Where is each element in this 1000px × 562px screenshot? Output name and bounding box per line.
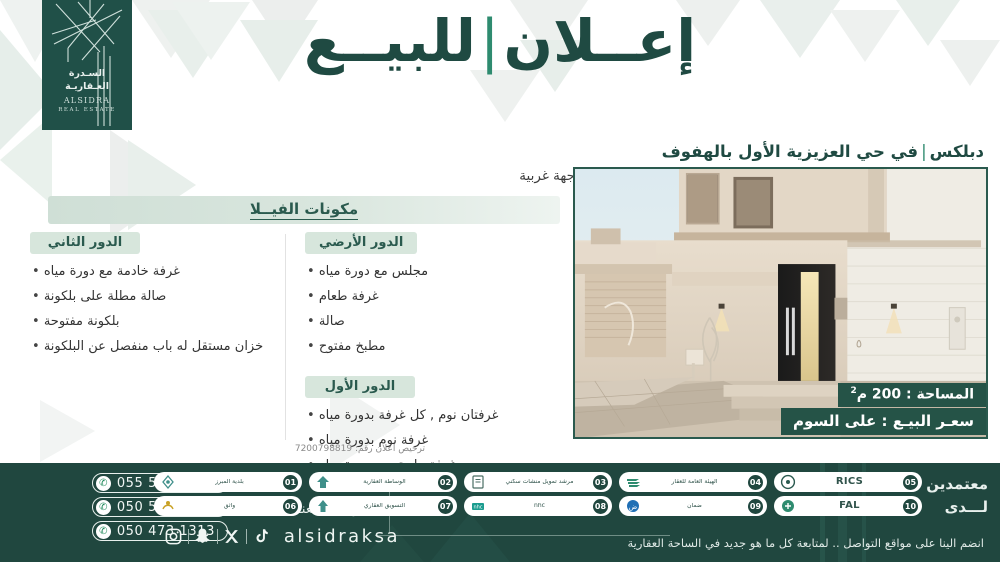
svg-text:nhc: nhc: [473, 505, 482, 511]
cert-label: RICS: [801, 476, 898, 488]
phone-icon: ✆: [96, 500, 111, 515]
cert-number: 03: [593, 475, 608, 490]
social-media-row: alsidraksa: [163, 525, 400, 547]
certification-badges: 05 RICS 04 الهيئة العامة للعقار 03 مرشد …: [154, 472, 922, 516]
daman-logo-icon: ض: [625, 499, 641, 514]
cert-number: 02: [438, 475, 453, 490]
cert-label: بلدية المبرز: [181, 479, 278, 486]
list-item: غرفتان نوم , كل غرفة بدورة مياه: [305, 404, 570, 429]
property-photo: ٥ المساحة : 200 م2 سعـر البيـع : على الس…: [573, 167, 988, 439]
title-main: إعــلان: [503, 7, 696, 75]
components-banner: مكونات الفيــلا: [48, 196, 560, 224]
advertisement-poster: السـدرة العـقاريـة ALSIDRA REAL ESTATE إ…: [0, 0, 1000, 562]
cert-badge-07[interactable]: 07 التسويق العقاري: [309, 496, 457, 516]
floor-title-first: الدور الأول: [305, 376, 415, 398]
components-title: مكونات الفيــلا: [250, 200, 358, 220]
cert-number: 09: [748, 499, 763, 514]
x-icon[interactable]: [221, 525, 243, 547]
cert-label: مرشد تمويل منشآت سكني: [491, 479, 588, 486]
accredited-label: معتمدين لـــدى: [926, 473, 988, 518]
cert-number: 01: [283, 475, 298, 490]
subtitle-separator: |: [918, 142, 930, 161]
license-number: ترخيص اعلان رقم: 7200798819: [295, 444, 425, 454]
cert-number: 07: [438, 499, 453, 514]
cert-label: واثق: [181, 503, 278, 510]
floor-title-ground: الدور الأرضي: [305, 232, 417, 254]
area-badge: المساحة : 200 م2: [838, 383, 986, 407]
listing-type: دبلكس: [930, 142, 984, 161]
cert-label: ضمان: [646, 503, 743, 510]
footer-note: انضم الينا على مواقع التواصل .. لمتابعة …: [627, 536, 984, 550]
list-item: خزان مستقل له باب منفصل عن البلكونة: [30, 335, 295, 360]
cert-badge-09[interactable]: 09 ضمان ض: [619, 496, 767, 516]
social-handle[interactable]: alsidraksa: [284, 526, 400, 547]
social-divider: [246, 529, 247, 544]
cert-badge-06[interactable]: 06 واثق: [154, 496, 302, 516]
cert-badge-04[interactable]: 04 الهيئة العامة للعقار: [619, 472, 767, 492]
cert-number: 08: [593, 499, 608, 514]
nhc-logo-icon: nhc: [470, 499, 486, 514]
social-divider: [217, 529, 218, 544]
rega-logo-icon: [625, 475, 641, 490]
accredited-label-line2: لـــدى: [926, 496, 988, 519]
cert-label: الوساطة العقارية: [336, 479, 433, 486]
cert-badge-05[interactable]: 05 RICS: [774, 472, 922, 492]
title-sub: للبيــع: [304, 7, 476, 75]
price-value: على السوم: [793, 412, 876, 430]
list-item: بلكونة مفتوحة: [30, 310, 295, 335]
floor-title-second: الدور الثاني: [30, 232, 140, 254]
list-item: مطبخ مفتوح: [305, 335, 570, 360]
cert-badge-01[interactable]: 01 بلدية المبرز: [154, 472, 302, 492]
floor-items-ground: مجلس مع دورة مياه غرفة طعام صالة مطبخ مف…: [305, 260, 570, 360]
title-separator: |: [476, 7, 504, 75]
cert-number: 05: [903, 475, 918, 490]
logo-arabic-text: السـدرة العـقاريـة: [65, 68, 109, 94]
price-badge: سعـر البيـع : على السوم: [781, 408, 986, 435]
cert-badge-03[interactable]: 03 مرشد تمويل منشآت سكني: [464, 472, 612, 492]
area-value: 200 م: [857, 387, 901, 403]
list-item: صالة: [305, 310, 570, 335]
cert-label: التسويق العقاري: [336, 503, 433, 510]
fal-logo-icon: [780, 499, 796, 514]
list-item: غرفة طعام: [305, 285, 570, 310]
cert-badge-10[interactable]: 10 FAL: [774, 496, 922, 516]
listing-subtitle: دبلكس|في حي العزيزية الأول بالهفوف: [662, 142, 984, 161]
cert-number: 06: [283, 499, 298, 514]
cert-badge-02[interactable]: 02 الوساطة العقارية: [309, 472, 457, 492]
guide-logo-icon: [470, 475, 486, 490]
price-label: سعـر البيـع :: [881, 412, 974, 430]
wathiq-logo-icon: [160, 499, 176, 514]
list-item: مجلس مع دورة مياه: [305, 260, 570, 285]
floor-block-ground: الدور الأرضي مجلس مع دورة مياه غرفة طعام…: [305, 232, 570, 360]
list-item: صالة مطلة على بلكونة: [30, 285, 295, 310]
floors-column-left: الدور الثاني غرفة خادمة مع دورة مياه صال…: [30, 232, 295, 360]
municipality-logo-icon: [160, 475, 176, 490]
floor-block-second: الدور الثاني غرفة خادمة مع دورة مياه صال…: [30, 232, 295, 360]
social-divider: [188, 529, 189, 544]
accredited-label-line1: معتمدين: [926, 473, 988, 496]
cert-number: 10: [903, 499, 918, 514]
cert-number: 04: [748, 475, 763, 490]
logo-latin-text: ALSIDRA REAL ESTATE: [58, 96, 116, 114]
svg-text:٥: ٥: [856, 336, 862, 350]
phone-icon: ✆: [96, 476, 111, 491]
area-label: المساحة :: [906, 387, 974, 403]
floor-items-second: غرفة خادمة مع دورة مياه صالة مطلة على بل…: [30, 260, 295, 360]
page-title: إعــلان|للبيــع: [0, 12, 1000, 70]
instagram-icon[interactable]: [163, 525, 185, 547]
cert-label: nhc: [491, 503, 588, 510]
cert-badge-08[interactable]: 08 nhc nhc: [464, 496, 612, 516]
snapchat-icon[interactable]: [192, 525, 214, 547]
floors-column-right: الدور الأرضي مجلس مع دورة مياه غرفة طعام…: [305, 232, 570, 479]
cert-label: FAL: [801, 500, 898, 512]
marketing-logo-icon: [315, 499, 331, 514]
brand-logo-panel: السـدرة العـقاريـة ALSIDRA REAL ESTATE: [42, 0, 132, 130]
footer-divider-horizontal: [375, 535, 670, 536]
list-item: غرفة خادمة مع دورة مياه: [30, 260, 295, 285]
brokerage-logo-icon: [315, 475, 331, 490]
cert-label: الهيئة العامة للعقار: [646, 479, 743, 486]
listing-location: في حي العزيزية الأول بالهفوف: [662, 142, 919, 161]
phone-icon: ✆: [96, 524, 111, 539]
svg-text:ض: ض: [629, 503, 637, 511]
tiktok-icon[interactable]: [250, 525, 272, 547]
rics-logo-icon: [780, 475, 796, 490]
